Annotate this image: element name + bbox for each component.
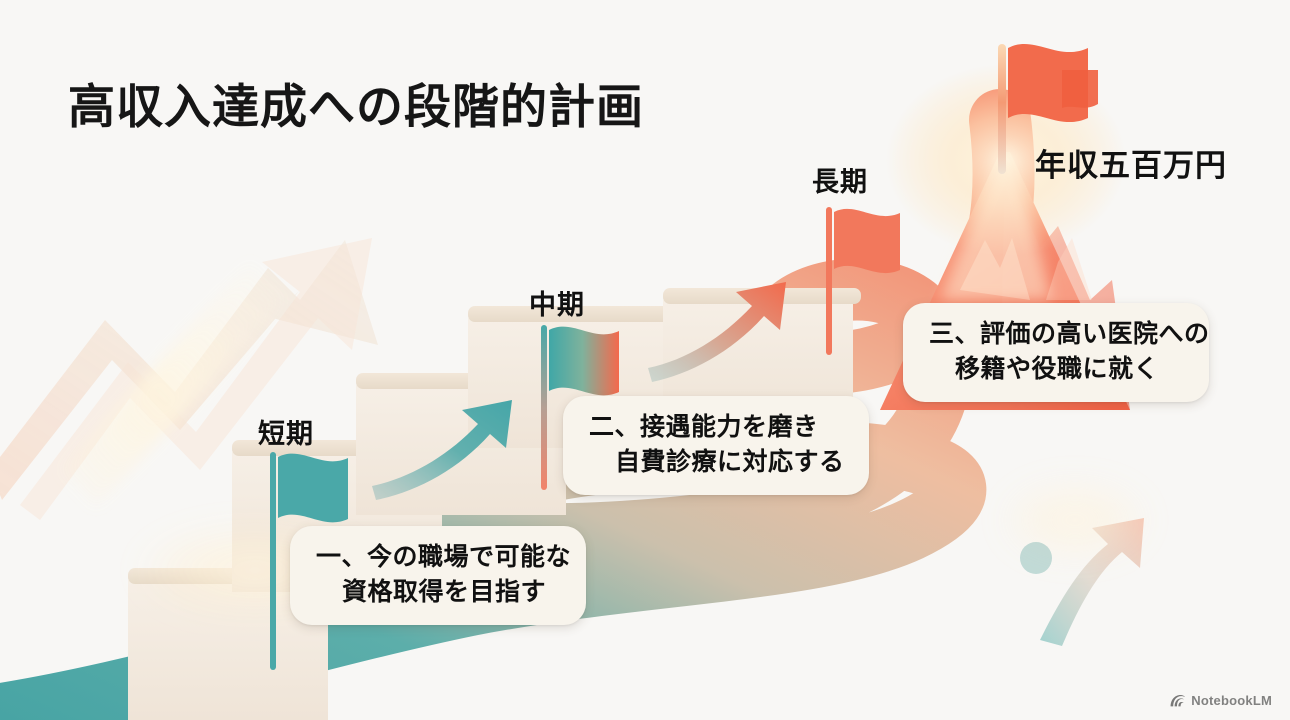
notebooklm-logo-icon [1169,693,1186,708]
step-card-3[interactable]: 三、評価の高い医院への 移籍や役職に就く [903,303,1209,402]
step-card-2-line-2: 自費診療に対応する [589,445,843,480]
step-card-2[interactable]: 二、接遇能力を磨き 自費診療に対応する [563,396,869,495]
step-card-3-line-2: 移籍や役職に就く [929,352,1183,387]
stage-label-mid-term: 中期 [529,283,585,322]
stage-label-short-term: 短期 [258,412,314,451]
notebooklm-watermark: NotebookLM [1169,693,1272,708]
page-title: 高収入達成への段階的計画 [68,68,644,137]
slide-canvas: 高収入達成への段階的計画 短期 中期 長期 年収五百万円 一、今の職場で可能な … [0,0,1290,720]
curved-arrow-glow [1000,480,1150,560]
step-card-3-line-1: 三、評価の高い医院への [929,317,1183,352]
goal-label: 年収五百万円 [1035,140,1227,185]
notebooklm-watermark-text: NotebookLM [1191,693,1272,708]
step-card-1[interactable]: 一、今の職場で可能な 資格取得を目指す [290,526,586,625]
step-card-1-line-2: 資格取得を目指す [316,575,560,610]
step-card-2-line-1: 二、接遇能力を磨き [589,410,843,445]
stage-label-long-term: 長期 [812,160,868,199]
accent-dot [1020,542,1052,574]
step-card-1-line-1: 一、今の職場で可能な [316,540,560,575]
